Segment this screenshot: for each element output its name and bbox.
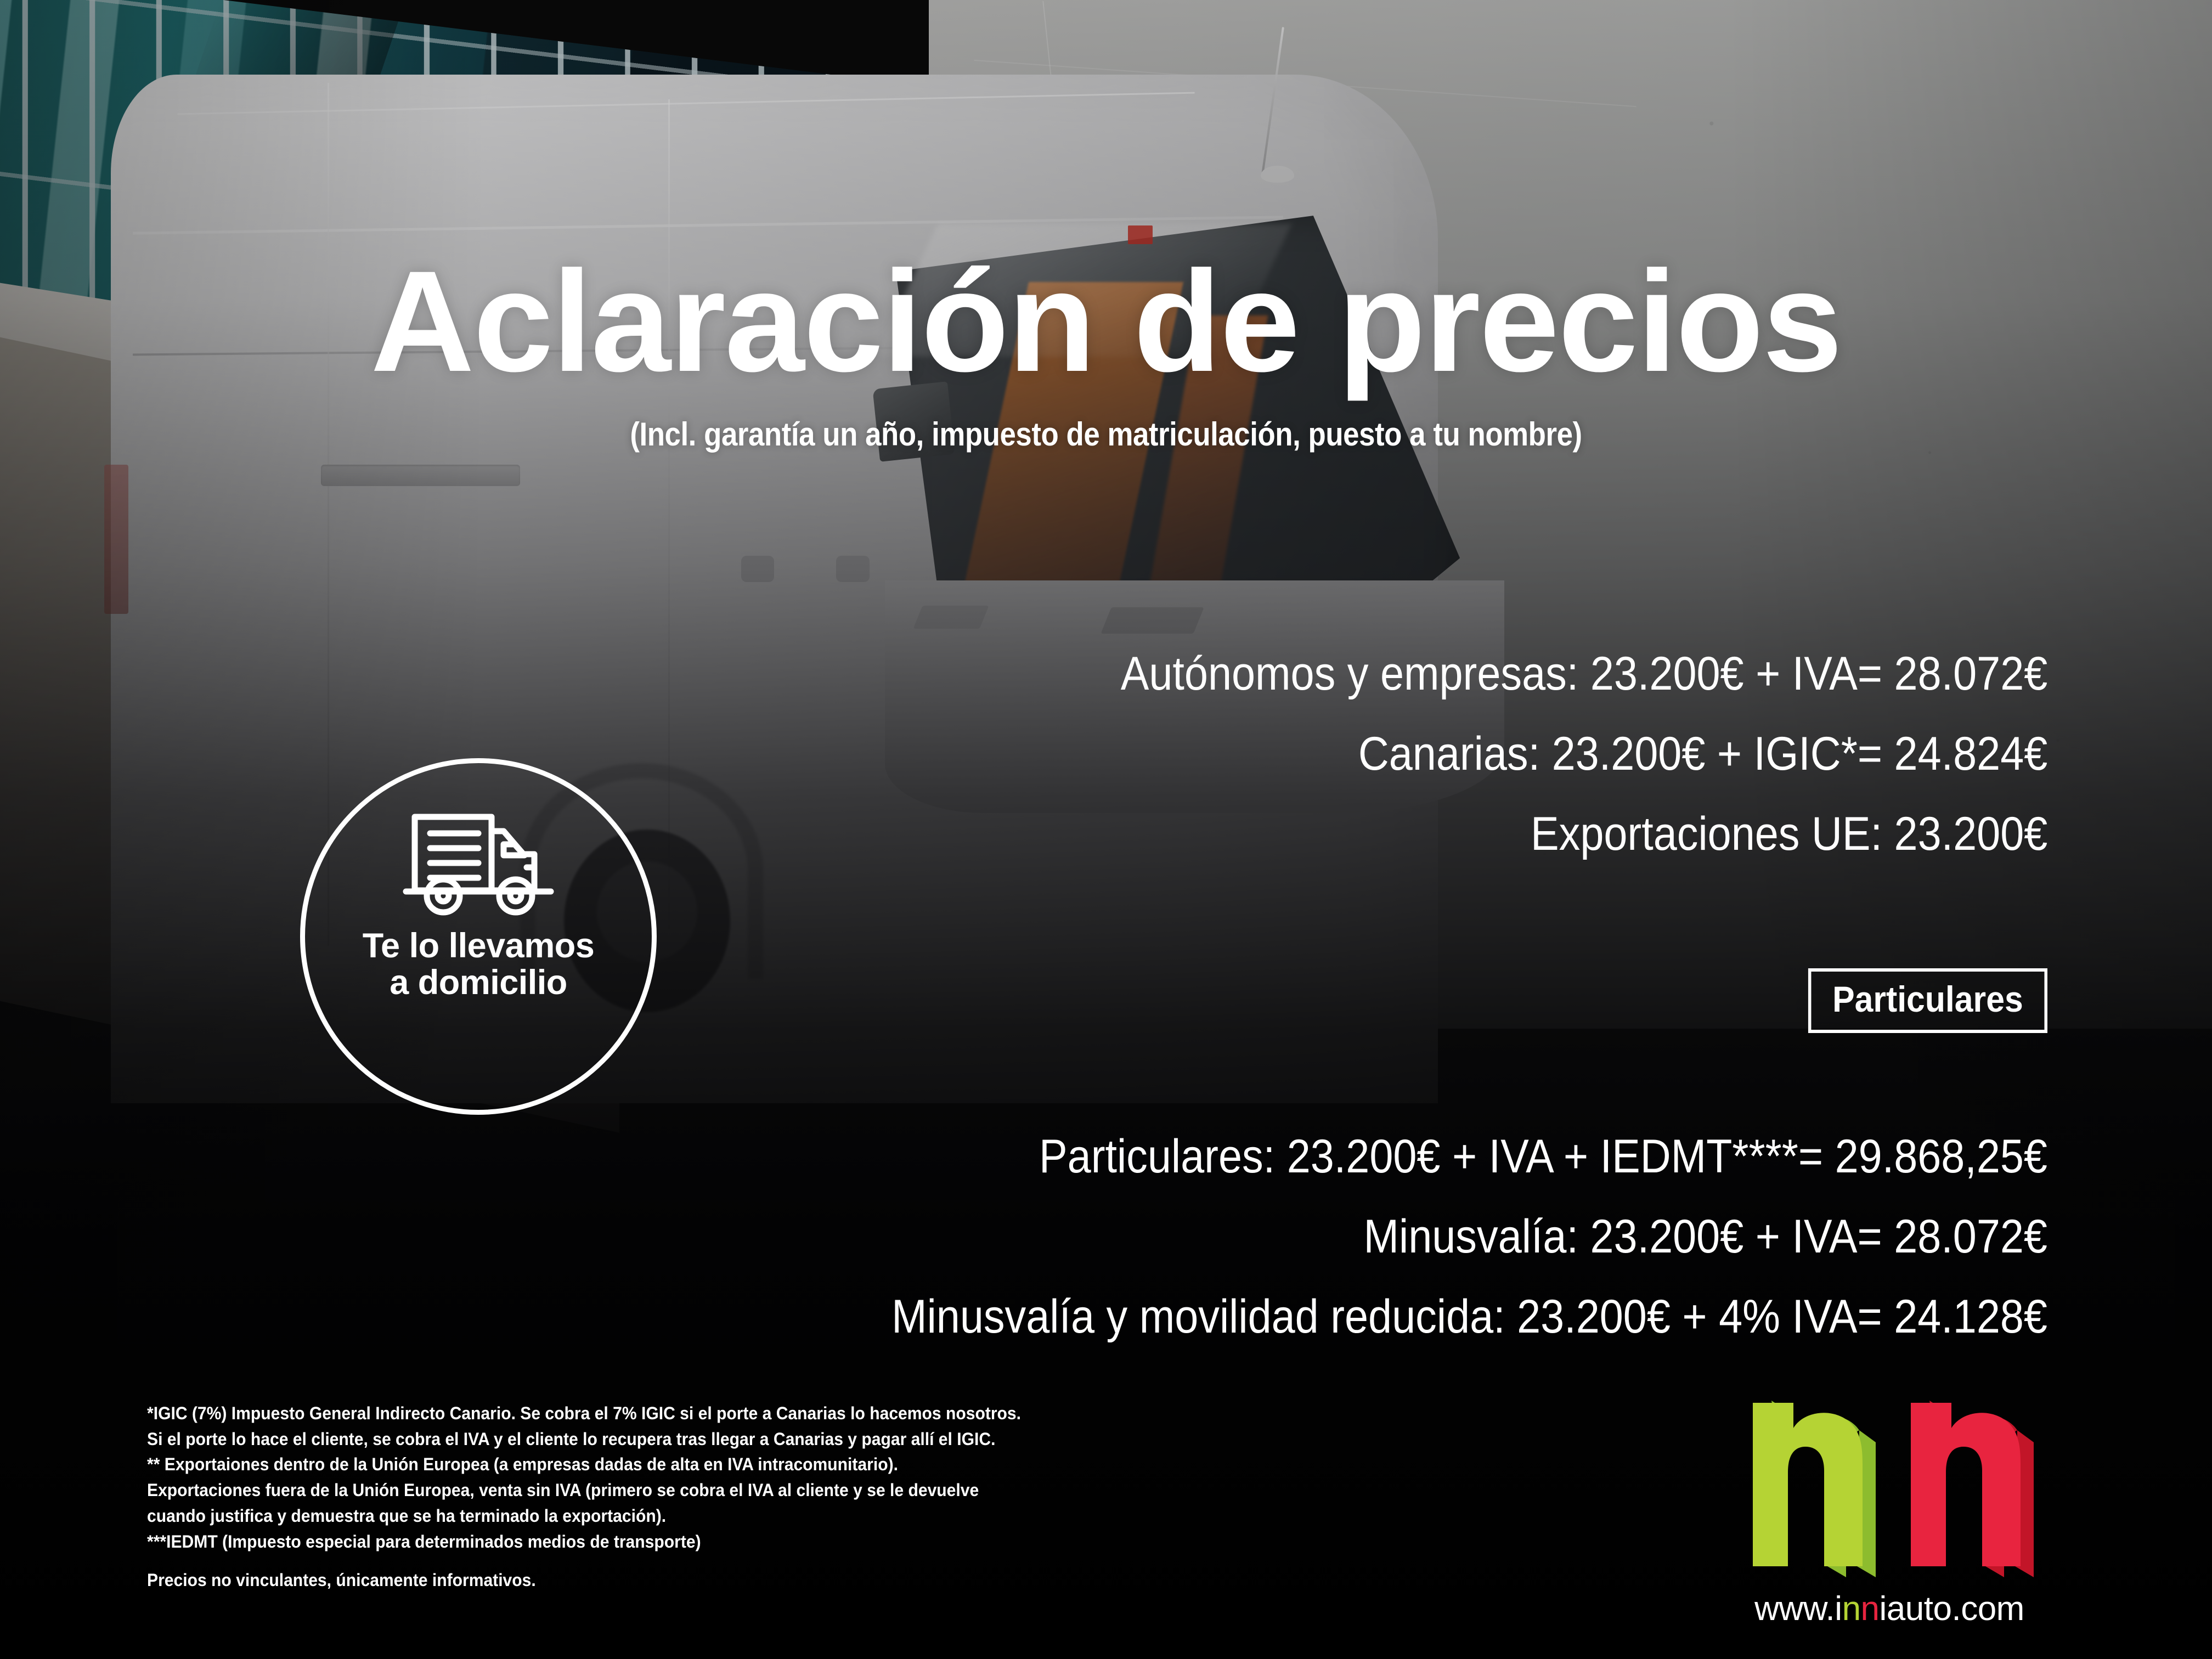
price-line-autonomos: Autónomos y empresas: 23.200€ + IVA= 28.… xyxy=(1120,650,2047,697)
page-title: Aclaración de precios xyxy=(0,250,2212,393)
website-url-n-red: n xyxy=(1861,1590,1880,1628)
fine-print-line-1: *IGIC (7%) Impuesto General Indirecto Ca… xyxy=(147,1401,1021,1426)
fine-print-line-6: ***IEDMT (Impuesto especial para determi… xyxy=(147,1529,1021,1555)
poster-content: Aclaración de precios (Incl. garantía un… xyxy=(0,0,2212,1659)
fine-print-line-2: Si el porte lo hace el cliente, se cobra… xyxy=(147,1426,1021,1452)
price-line-canarias: Canarias: 23.200€ + IGIC*= 24.824€ xyxy=(1120,730,2047,777)
delivery-truck-icon xyxy=(396,803,561,918)
fine-print-disclaimer: Precios no vinculantes, únicamente infor… xyxy=(147,1567,1021,1593)
status-badge-particulares: Particulares xyxy=(1808,968,2047,1033)
business-price-list: Autónomos y empresas: 23.200€ + IVA= 28.… xyxy=(1018,650,2047,890)
website-url[interactable]: www.inniauto.com xyxy=(1681,1589,2098,1628)
page-subtitle: (Incl. garantía un año, impuesto de matr… xyxy=(133,415,2079,453)
home-delivery-line2: a domicilio xyxy=(363,964,595,1001)
fine-print: *IGIC (7%) Impuesto General Indirecto Ca… xyxy=(147,1401,1021,1593)
fine-print-line-4: Exportaciones fuera de la Unión Europea,… xyxy=(147,1477,1021,1503)
double-n-logo-icon xyxy=(1681,1396,2098,1588)
home-delivery-badge: Te lo llevamos a domicilio xyxy=(300,758,657,1115)
pricing-poster: Aclaración de precios (Incl. garantía un… xyxy=(0,0,2212,1659)
home-delivery-label: Te lo llevamos a domicilio xyxy=(363,928,595,1001)
fine-print-line-3: ** Exportaiones dentro de la Unión Europ… xyxy=(147,1452,1021,1477)
home-delivery-line1: Te lo llevamos xyxy=(363,928,595,964)
price-line-minusvalia-movilidad: Minusvalía y movilidad reducida: 23.200€… xyxy=(891,1293,2047,1340)
website-url-n-green: n xyxy=(1842,1590,1861,1628)
fine-print-spacer xyxy=(147,1554,1021,1567)
price-line-particulares: Particulares: 23.200€ + IVA + IEDMT****=… xyxy=(891,1133,2047,1180)
private-price-list: Particulares: 23.200€ + IVA + IEDMT****=… xyxy=(763,1133,2047,1373)
website-url-suffix: iauto.com xyxy=(1880,1590,2024,1628)
fine-print-line-5: cuando justifica y demuestra que se ha t… xyxy=(147,1503,1021,1529)
price-line-minusvalia: Minusvalía: 23.200€ + IVA= 28.072€ xyxy=(891,1213,2047,1260)
brand-logo[interactable]: www.inniauto.com xyxy=(1681,1396,2098,1628)
price-line-exportaciones: Exportaciones UE: 23.200€ xyxy=(1120,810,2047,857)
website-url-prefix: www.i xyxy=(1754,1590,1842,1628)
